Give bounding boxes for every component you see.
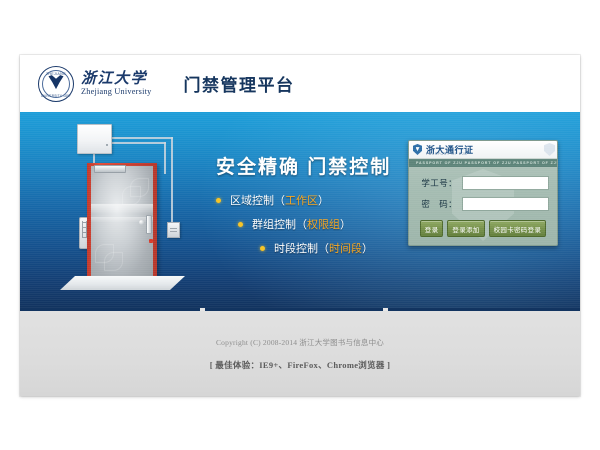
dot-icon xyxy=(238,222,243,227)
login-add-button[interactable]: 登录添加 xyxy=(447,220,484,237)
site-header: ZHEJIANG UNIVERSITY 1897 浙江大学 Zhejiang U… xyxy=(20,55,580,112)
browser-support-text: [ 最佳体验：IE9+、FireFox、Chrome浏览器 ] xyxy=(210,359,391,371)
login-button[interactable]: 登录 xyxy=(420,220,444,237)
door-status-led-icon xyxy=(149,239,153,243)
campus-card-login-button[interactable]: 校园卡密码登录 xyxy=(489,220,547,237)
hero-banner: 安全精确 门禁控制 区域控制（工作区） 群组控制（权限组） 时段控制（时间段） … xyxy=(20,112,580,308)
wire-door-vertical xyxy=(164,142,166,174)
list-item: 时段控制（时间段） xyxy=(260,240,373,256)
login-strip-text: PASSPORT OF ZJU PASSPORT OF ZJU PASSPORT… xyxy=(409,161,557,165)
feature-highlight: 时间段 xyxy=(329,240,362,256)
page-title: 门禁管理平台 xyxy=(183,71,294,96)
login-passport-strip: PASSPORT OF ZJU PASSPORT OF ZJU PASSPORT… xyxy=(409,159,557,167)
university-name-en: Zhejiang University xyxy=(81,87,151,96)
userid-label: 学工号： xyxy=(417,177,457,189)
crest-arc-top: ZHEJIANG xyxy=(46,72,66,76)
list-item: 区域控制（工作区） xyxy=(216,192,373,208)
card-reader xyxy=(167,222,180,238)
security-door xyxy=(87,163,157,280)
controller-indicator-icon xyxy=(106,144,109,147)
door-illustration xyxy=(42,118,207,303)
door-leaf-motif-2 xyxy=(104,252,123,271)
card-reader-lines-icon xyxy=(170,226,177,232)
access-controller-box xyxy=(77,124,112,154)
feature-label: 群组控制（ xyxy=(252,216,307,232)
door-leaf-motif-4 xyxy=(122,186,141,205)
university-logo[interactable]: ZHEJIANG UNIVERSITY 1897 浙江大学 Zhejiang U… xyxy=(38,66,151,102)
login-form: 学工号： 密 码： 登录 登录添加 校园卡密码登录 xyxy=(409,167,557,245)
feature-label: 区域控制（ xyxy=(230,192,285,208)
wire-reader-vertical xyxy=(171,137,173,223)
door-knob-icon xyxy=(139,220,144,225)
floor-platform xyxy=(60,276,185,290)
copyright-text: Copyright (C) 2008-2014 浙江大学图书与信息中心 xyxy=(216,337,384,348)
banner-slogan: 安全精确 门禁控制 xyxy=(216,152,391,179)
zju-crest-icon: ZHEJIANG UNIVERSITY 1897 xyxy=(38,66,74,102)
userid-row: 学工号： xyxy=(417,176,549,190)
door-highlight-band-1 xyxy=(91,204,153,213)
wire-controller-to-reader-h xyxy=(110,137,173,139)
login-panel: 浙大通行证 PASSPORT OF ZJU PASSPORT OF ZJU PA… xyxy=(408,140,558,246)
userid-input[interactable] xyxy=(462,176,549,190)
logo-text-block: 浙江大学 Zhejiang University xyxy=(81,71,151,97)
feature-highlight: 工作区 xyxy=(285,192,318,208)
site-footer: Copyright (C) 2008-2014 浙江大学图书与信息中心 [ 最佳… xyxy=(20,311,580,396)
divider-notch-1 xyxy=(200,308,205,311)
divider-notch-2 xyxy=(383,308,388,311)
login-button-row: 登录 登录添加 校园卡密码登录 xyxy=(417,220,549,237)
wire-controller-to-door-h xyxy=(110,142,166,144)
feature-tail: ） xyxy=(362,240,373,256)
shield-watermark-icon xyxy=(544,143,555,156)
door-closer xyxy=(94,165,126,173)
password-row: 密 码： xyxy=(417,197,549,211)
footer-divider xyxy=(20,308,580,311)
dot-icon xyxy=(216,198,221,203)
door-handle xyxy=(146,215,152,234)
shield-icon xyxy=(413,144,422,155)
feature-list: 区域控制（工作区） 群组控制（权限组） 时段控制（时间段） xyxy=(216,192,373,264)
crest-arc-bottom: UNIVERSITY 1897 xyxy=(41,94,71,98)
list-item: 群组控制（权限组） xyxy=(238,216,373,232)
university-name-cn: 浙江大学 xyxy=(81,71,151,87)
feature-label: 时段控制（ xyxy=(274,240,329,256)
password-input[interactable] xyxy=(462,197,549,211)
password-label: 密 码： xyxy=(417,198,457,210)
feature-tail: ） xyxy=(340,216,351,232)
feature-tail: ） xyxy=(318,192,329,208)
dot-icon xyxy=(260,246,265,251)
feature-highlight: 权限组 xyxy=(307,216,340,232)
login-title-en: PASSPORT OF ZJU xyxy=(426,152,467,156)
login-panel-header: 浙大通行证 PASSPORT OF ZJU xyxy=(409,141,557,159)
app-page: ZHEJIANG UNIVERSITY 1897 浙江大学 Zhejiang U… xyxy=(20,55,580,396)
